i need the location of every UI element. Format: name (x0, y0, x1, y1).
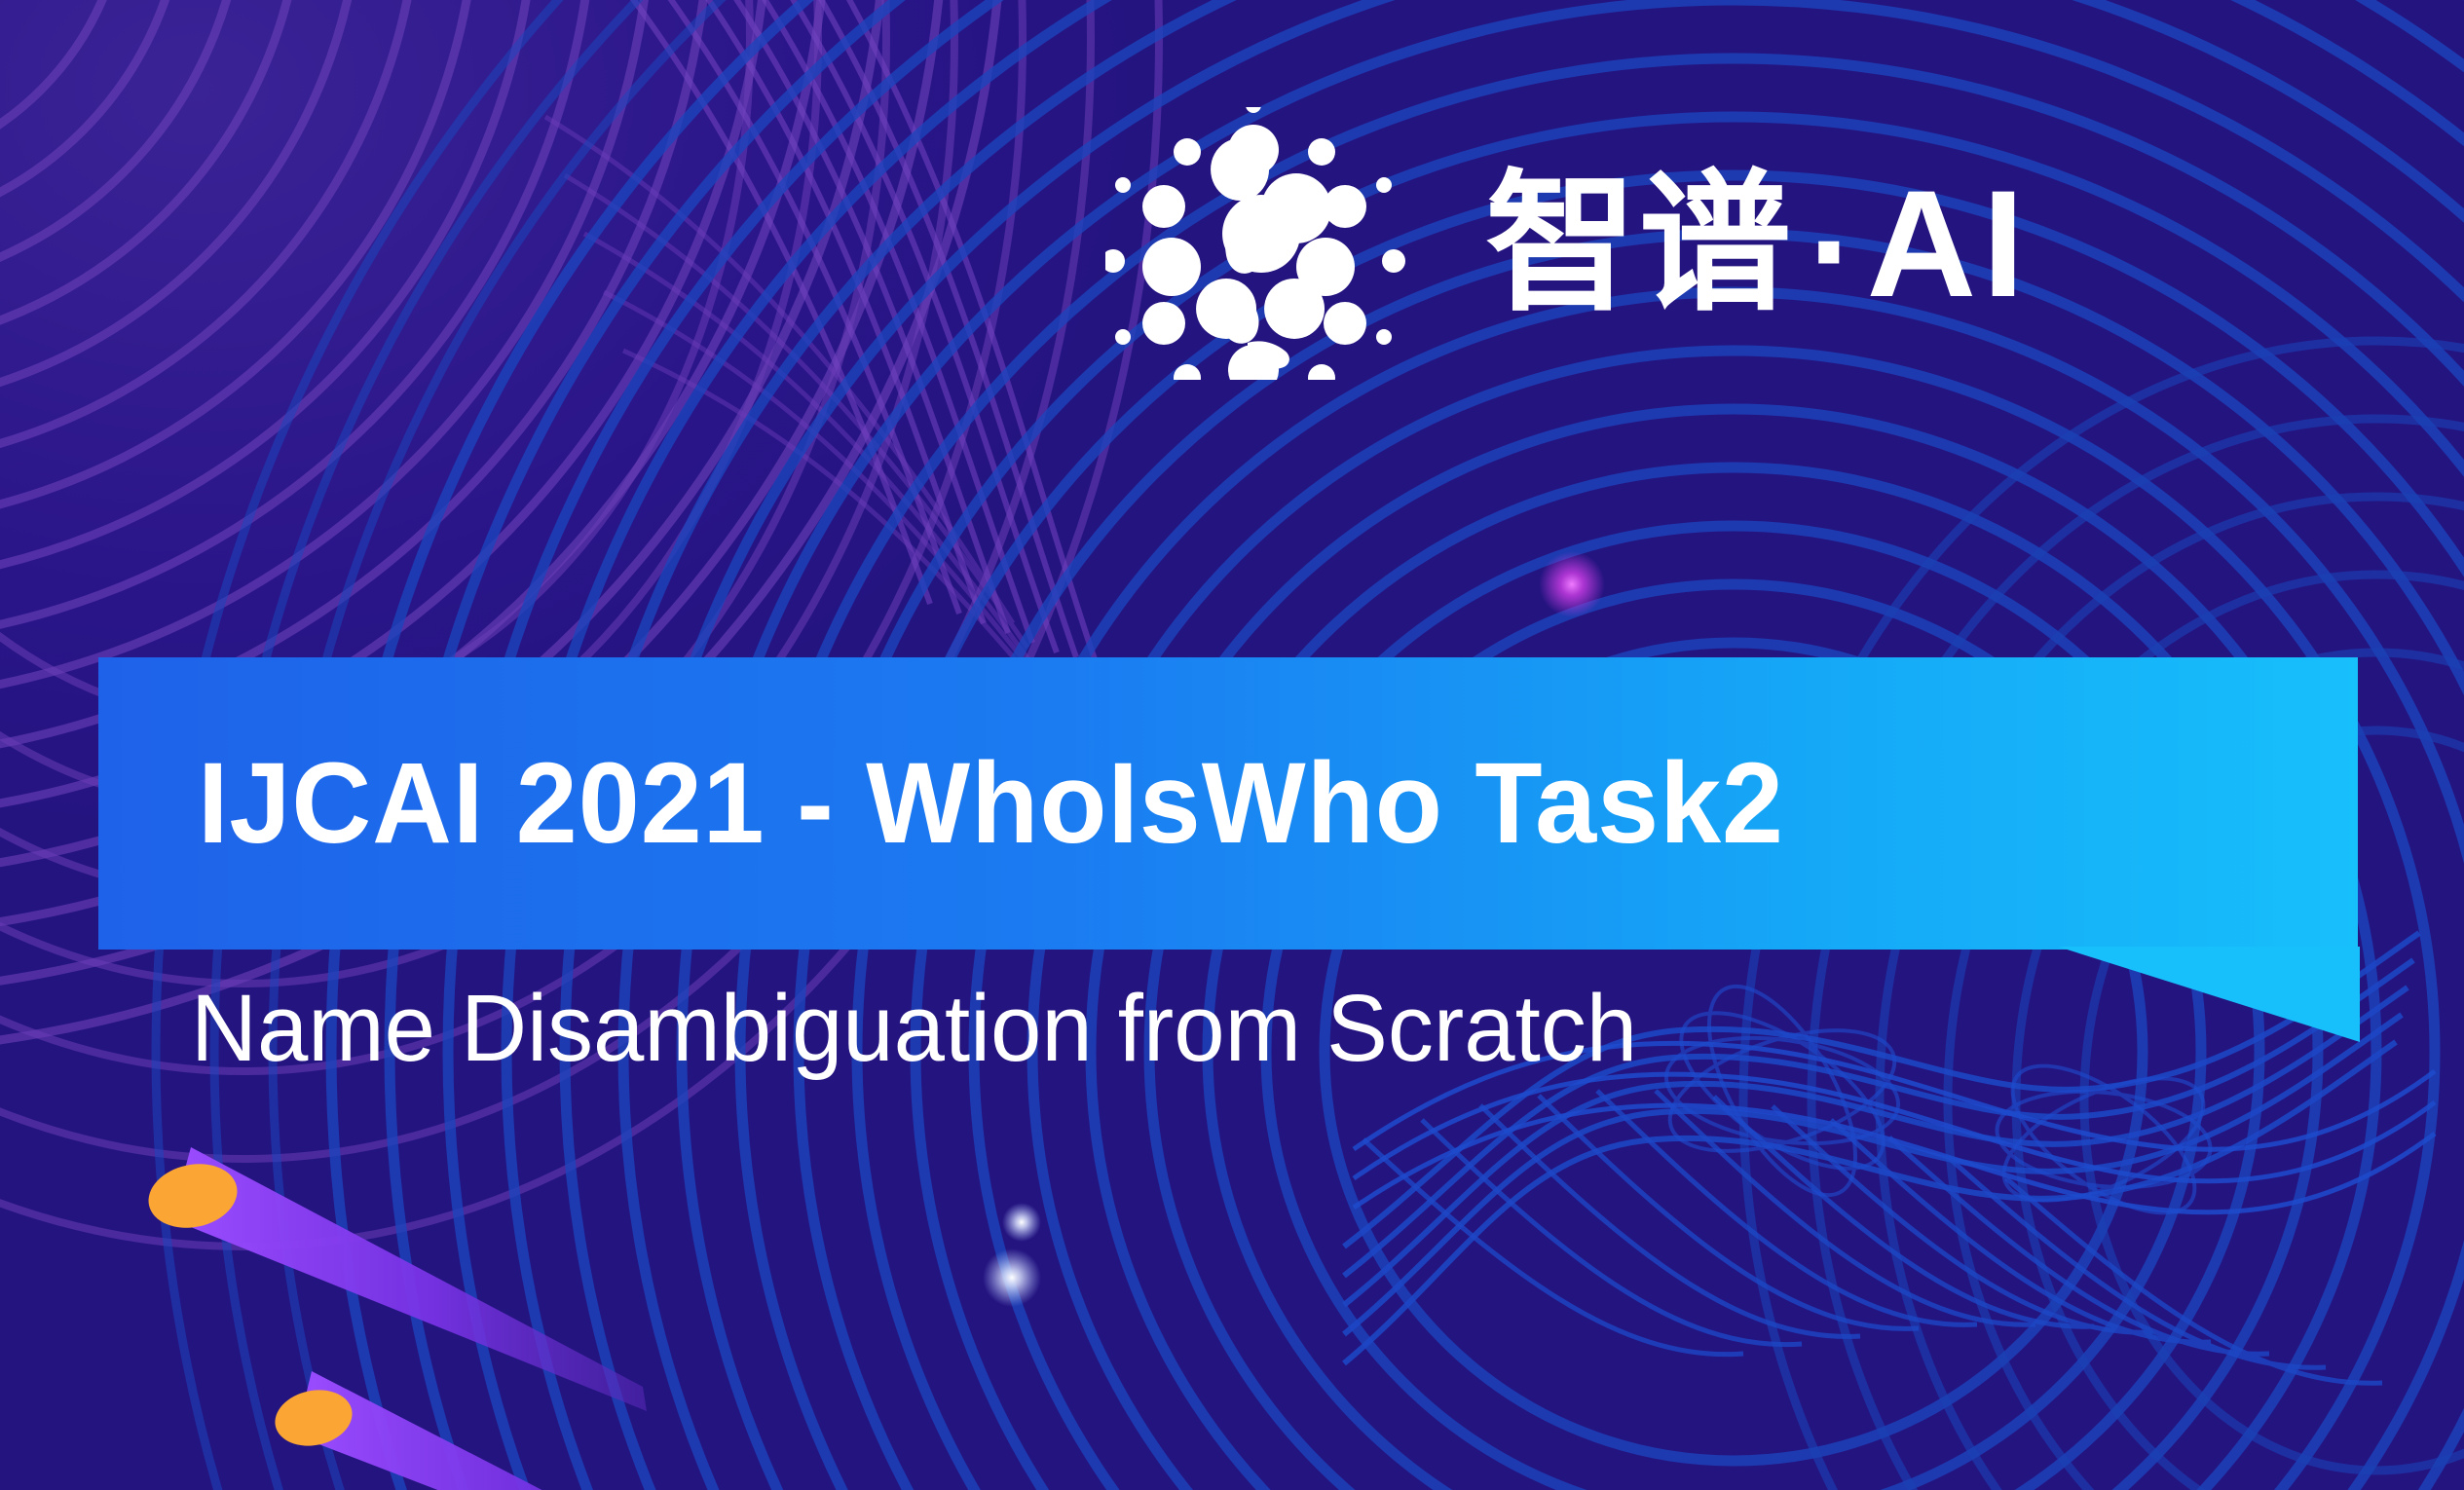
banner-tail-flag (2058, 947, 2360, 1044)
poster-subtitle: Name Disambiguation from Scratch (191, 974, 1637, 1083)
spark-white-small-icon (1002, 1203, 1041, 1242)
zhipu-ai-logo: 智谱·AI (1105, 107, 2206, 380)
wordmark-en: AI (1867, 160, 2031, 329)
spark-white-large-icon (983, 1248, 1041, 1307)
zhipu-ai-wordmark: 智谱·AI (1485, 168, 2031, 320)
zhipu-node-dots-logo-icon (1105, 107, 1427, 380)
wordmark-separator: · (1807, 196, 1853, 313)
poster-canvas: 智谱·AI IJCAI 2021 - WhoIsWho Task2 Name D… (0, 0, 2464, 1490)
title-banner: IJCAI 2021 - WhoIsWho Task2 (98, 657, 2358, 950)
banner-title: IJCAI 2021 - WhoIsWho Task2 (198, 737, 1784, 870)
wordmark-cn: 智谱 (1485, 155, 1793, 332)
spark-magenta-icon (1539, 551, 1605, 617)
